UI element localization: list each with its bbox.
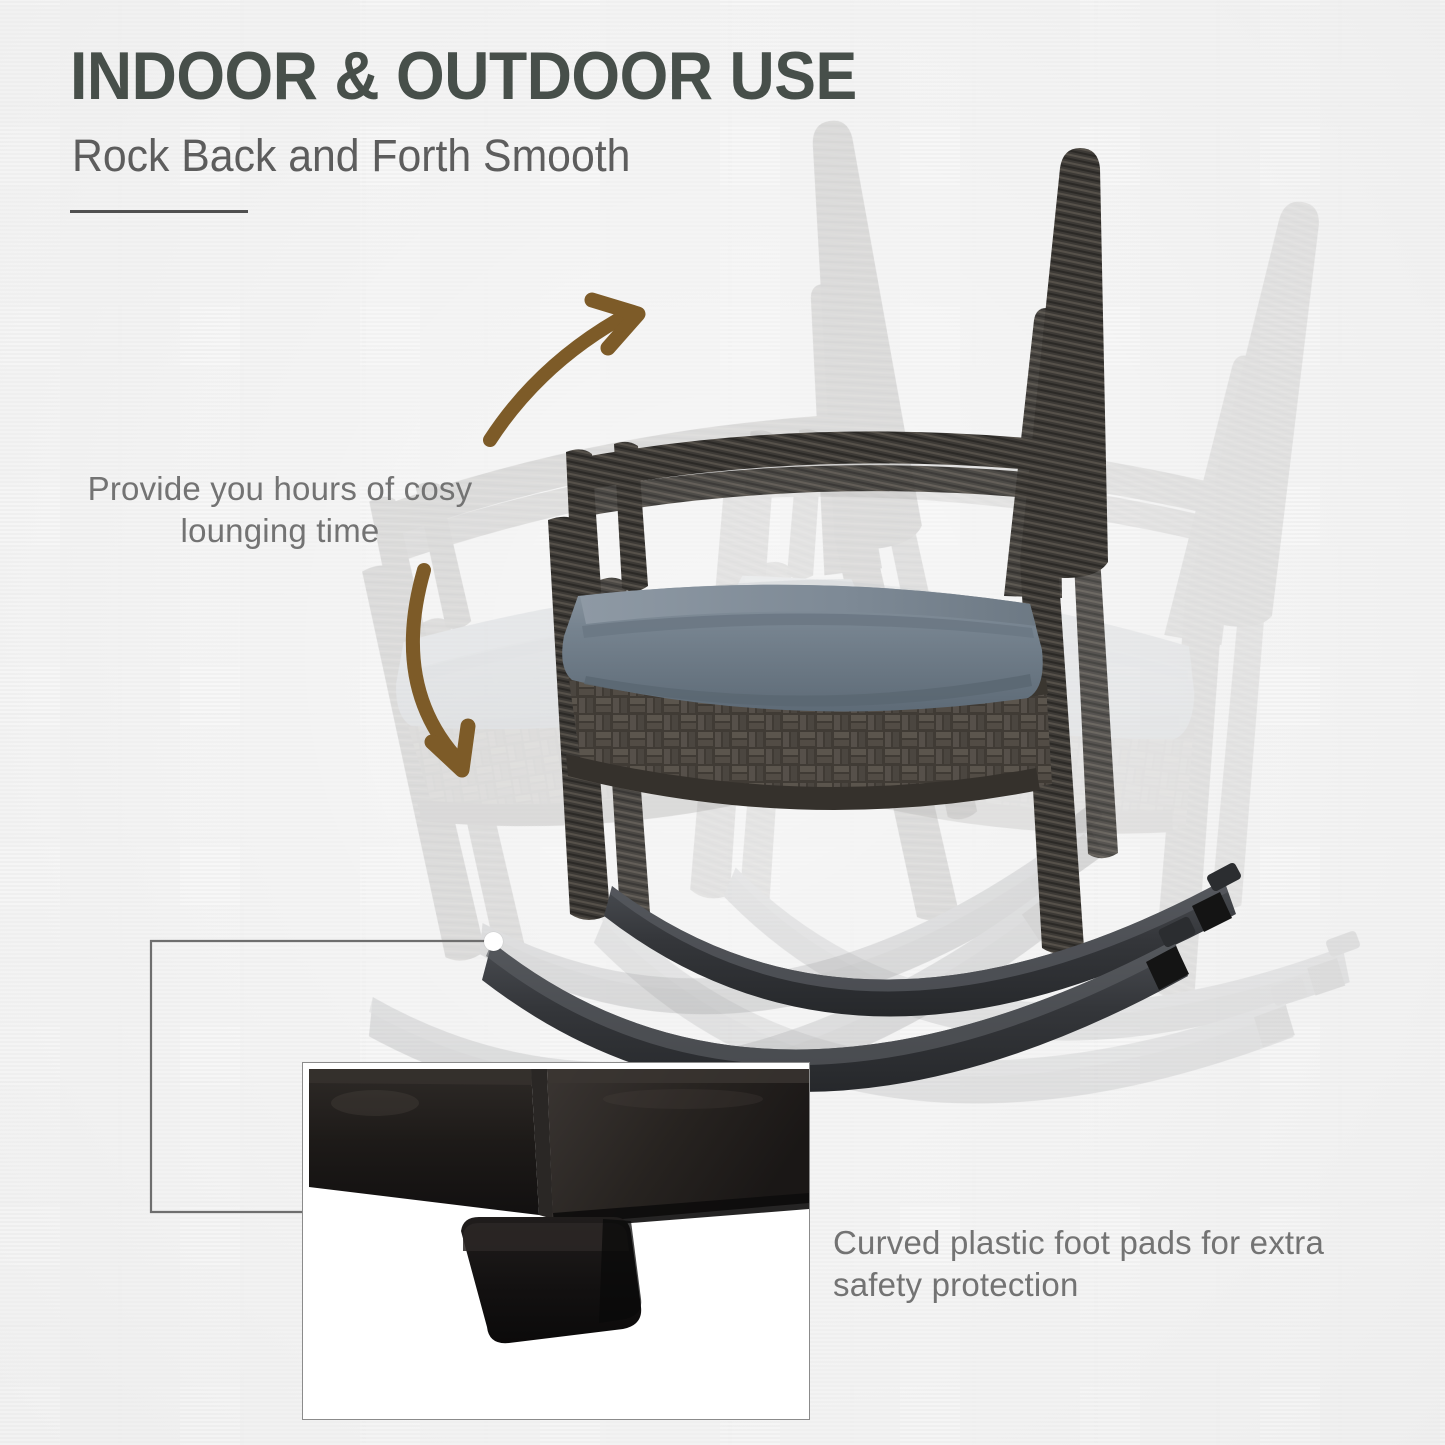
- foot-pad-detail-photo: [302, 1062, 810, 1420]
- page-subtitle: Rock Back and Forth Smooth: [72, 130, 1020, 182]
- annotation-comfort: Provide you hours of cosy lounging time: [80, 468, 480, 552]
- infographic-canvas: INDOOR & OUTDOOR USE Rock Back and Forth…: [0, 0, 1445, 1445]
- title-divider: [70, 210, 248, 213]
- page-title: INDOOR & OUTDOOR USE: [70, 40, 990, 112]
- annotation-foot-pads: Curved plastic foot pads for extra safet…: [833, 1222, 1373, 1306]
- callout-dot-icon: [484, 932, 503, 951]
- header-block: INDOOR & OUTDOOR USE Rock Back and Forth…: [70, 40, 1070, 213]
